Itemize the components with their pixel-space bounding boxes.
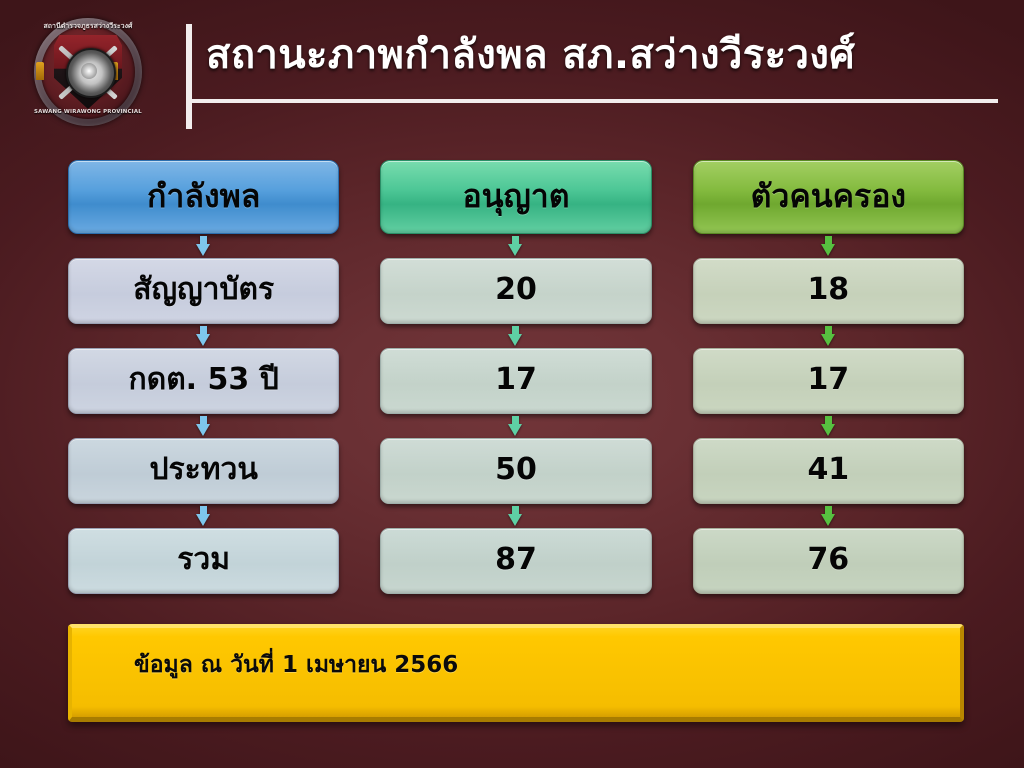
- connector-slot: [693, 504, 964, 528]
- connector-row: [68, 234, 964, 258]
- connector-slot: [380, 414, 651, 438]
- down-arrow-icon: [508, 416, 523, 436]
- row-present-cell[interactable]: 76: [693, 528, 964, 594]
- row-allowed-value: 87: [495, 545, 537, 577]
- row-label-cell[interactable]: กดต. 53 ปี: [68, 348, 339, 414]
- row-label: กดต. 53 ปี: [129, 365, 279, 397]
- connector-slot: [693, 234, 964, 258]
- connector-slot: [68, 324, 339, 348]
- down-arrow-icon: [196, 326, 211, 346]
- column-header-personnel[interactable]: กำลังพล: [68, 160, 339, 234]
- down-arrow-icon: [196, 236, 211, 256]
- connector-slot: [380, 504, 651, 528]
- table-row: ประทวน 50 41: [68, 438, 964, 504]
- emblem-text-english: SAWANG WIRAWONG PROVINCIAL POLICE STATIO…: [34, 109, 142, 115]
- connector-slot: [68, 414, 339, 438]
- row-label-cell[interactable]: สัญญาบัตร: [68, 258, 339, 324]
- row-allowed-value: 17: [495, 365, 537, 397]
- data-as-of-note: ข้อมูล ณ วันที่ 1 เมษายน 2566: [134, 647, 458, 683]
- row-allowed-cell[interactable]: 50: [380, 438, 651, 504]
- connector-slot: [68, 504, 339, 528]
- row-allowed-cell[interactable]: 20: [380, 258, 651, 324]
- table-row-total: รวม 87 76: [68, 528, 964, 594]
- connector-slot: [380, 234, 651, 258]
- down-arrow-icon: [196, 506, 211, 526]
- down-arrow-icon: [821, 326, 836, 346]
- down-arrow-icon: [508, 236, 523, 256]
- column-header-allowed-label: อนุญาต: [462, 180, 569, 214]
- table-row: สัญญาบัตร 20 18: [68, 258, 964, 324]
- row-allowed-cell[interactable]: 17: [380, 348, 651, 414]
- down-arrow-icon: [508, 326, 523, 346]
- row-present-value: 18: [807, 275, 849, 307]
- emblem-text-thai: สถานีตำรวจภูธรสว่างวีระวงศ์: [34, 21, 142, 32]
- row-label: สัญญาบัตร: [133, 275, 274, 307]
- down-arrow-icon: [821, 416, 836, 436]
- column-header-present-label: ตัวคนครอง: [751, 180, 906, 214]
- connector-slot: [380, 324, 651, 348]
- personnel-table: กำลังพล อนุญาต ตัวคนครอง สัญญาบัตร 20 18: [68, 160, 964, 594]
- row-label-cell[interactable]: ประทวน: [68, 438, 339, 504]
- down-arrow-icon: [821, 506, 836, 526]
- row-present-value: 17: [807, 365, 849, 397]
- table-header-row: กำลังพล อนุญาต ตัวคนครอง: [68, 160, 964, 234]
- column-header-present[interactable]: ตัวคนครอง: [693, 160, 964, 234]
- down-arrow-icon: [508, 506, 523, 526]
- row-label: ประทวน: [149, 455, 257, 487]
- connector-row: [68, 414, 964, 438]
- emblem-wheel-icon: [66, 48, 116, 98]
- row-present-value: 41: [807, 455, 849, 487]
- connector-row: [68, 324, 964, 348]
- connector-slot: [68, 234, 339, 258]
- header-banner: สถานีตำรวจภูธรสว่างวีระวงศ์ SAWANG WIRAW…: [0, 0, 1024, 142]
- row-present-cell[interactable]: 17: [693, 348, 964, 414]
- slide-canvas: สถานีตำรวจภูธรสว่างวีระวงศ์ SAWANG WIRAW…: [0, 0, 1024, 768]
- row-allowed-cell[interactable]: 87: [380, 528, 651, 594]
- down-arrow-icon: [821, 236, 836, 256]
- row-label: รวม: [177, 545, 230, 577]
- table-row: กดต. 53 ปี 17 17: [68, 348, 964, 414]
- footer-note-banner: ข้อมูล ณ วันที่ 1 เมษายน 2566: [68, 624, 964, 722]
- column-header-allowed[interactable]: อนุญาต: [380, 160, 651, 234]
- row-allowed-value: 20: [495, 275, 537, 307]
- connector-slot: [693, 414, 964, 438]
- connector-row: [68, 504, 964, 528]
- down-arrow-icon: [196, 416, 211, 436]
- page-title: สถานะภาพกำลังพล สภ.สว่างวีระวงศ์: [206, 33, 1006, 78]
- police-station-emblem: สถานีตำรวจภูธรสว่างวีระวงศ์ SAWANG WIRAW…: [14, 10, 160, 136]
- connector-slot: [693, 324, 964, 348]
- row-label-cell[interactable]: รวม: [68, 528, 339, 594]
- row-allowed-value: 50: [495, 455, 537, 487]
- row-present-cell[interactable]: 18: [693, 258, 964, 324]
- title-vertical-rule: [186, 24, 192, 129]
- title-horizontal-rule: [186, 99, 998, 103]
- column-header-personnel-label: กำลังพล: [147, 180, 260, 214]
- row-present-cell[interactable]: 41: [693, 438, 964, 504]
- emblem-pillar-left-icon: [36, 62, 44, 80]
- row-present-value: 76: [807, 545, 849, 577]
